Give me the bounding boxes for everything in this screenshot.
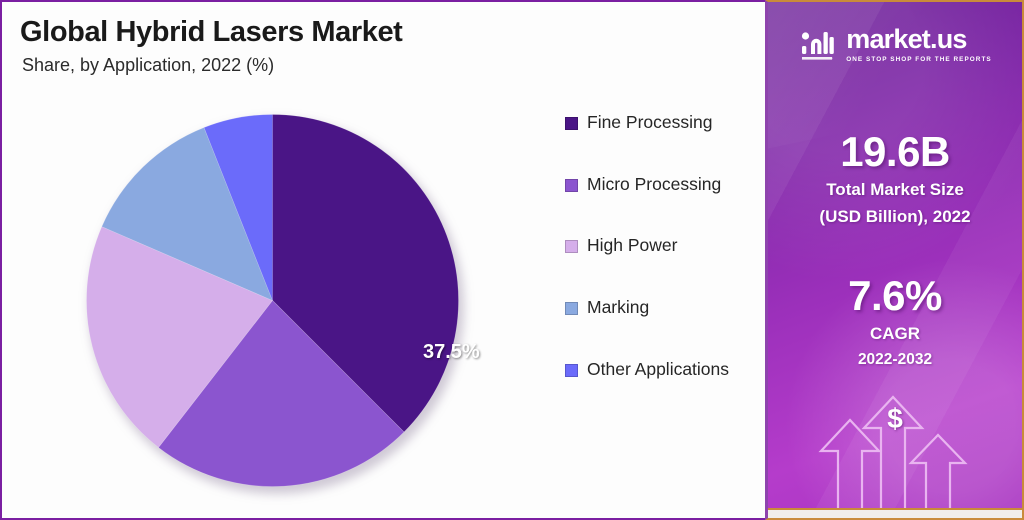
pie-slice-group — [87, 115, 459, 487]
logo-wordmark: market.us — [846, 26, 992, 53]
stat-value: 19.6B — [768, 130, 1022, 174]
legend-swatch-icon — [565, 179, 578, 192]
legend-label: Other Applications — [587, 359, 729, 381]
legend-item[interactable]: Micro Processing — [565, 174, 760, 196]
legend-label: Marking — [587, 297, 649, 319]
legend-item[interactable]: High Power — [565, 235, 760, 257]
stat-cagr: 7.6% CAGR 2022-2032 — [768, 274, 1022, 370]
legend-label: Fine Processing — [587, 112, 712, 134]
stat-label-line2: 2022-2032 — [768, 351, 1022, 370]
legend-swatch-icon — [565, 364, 578, 377]
logo-text: market.us ONE STOP SHOP FOR THE REPORTS — [846, 26, 992, 63]
stats-panel: market.us ONE STOP SHOP FOR THE REPORTS … — [765, 0, 1024, 520]
logo-tagline: ONE STOP SHOP FOR THE REPORTS — [846, 56, 992, 63]
stat-label-line1: Total Market Size — [768, 180, 1022, 201]
pie-chart: 37.5% — [85, 113, 460, 488]
infographic-root: Global Hybrid Lasers Market Share, by Ap… — [0, 0, 1024, 520]
legend-item[interactable]: Fine Processing — [565, 112, 760, 134]
stat-market-size: 19.6B Total Market Size (USD Billion), 2… — [768, 130, 1022, 228]
stat-label-line2: (USD Billion), 2022 — [768, 207, 1022, 228]
page-title: Global Hybrid Lasers Market — [20, 16, 402, 49]
legend-item[interactable]: Marking — [565, 297, 760, 319]
legend-item[interactable]: Other Applications — [565, 359, 760, 381]
stat-label-line1: CAGR — [768, 324, 1022, 345]
pie-slice-value-label: 37.5% — [423, 341, 480, 364]
pie-chart-svg — [85, 113, 460, 488]
brand-logo[interactable]: market.us ONE STOP SHOP FOR THE REPORTS — [768, 24, 1022, 64]
chart-panel: Global Hybrid Lasers Market Share, by Ap… — [0, 0, 765, 520]
legend-label: High Power — [587, 235, 677, 257]
chart-header: Global Hybrid Lasers Market Share, by Ap… — [20, 16, 402, 76]
legend-swatch-icon — [565, 302, 578, 315]
panel-bottom-strip — [768, 508, 1022, 518]
legend-swatch-icon — [565, 117, 578, 130]
bar-chart-logo-icon — [798, 24, 838, 64]
chart-subtitle: Share, by Application, 2022 (%) — [22, 55, 402, 76]
growth-arrows-icon: $ — [768, 393, 1022, 518]
chart-legend: Fine ProcessingMicro ProcessingHigh Powe… — [565, 112, 760, 420]
stat-value: 7.6% — [768, 274, 1022, 318]
legend-swatch-icon — [565, 240, 578, 253]
legend-label: Micro Processing — [587, 174, 721, 196]
